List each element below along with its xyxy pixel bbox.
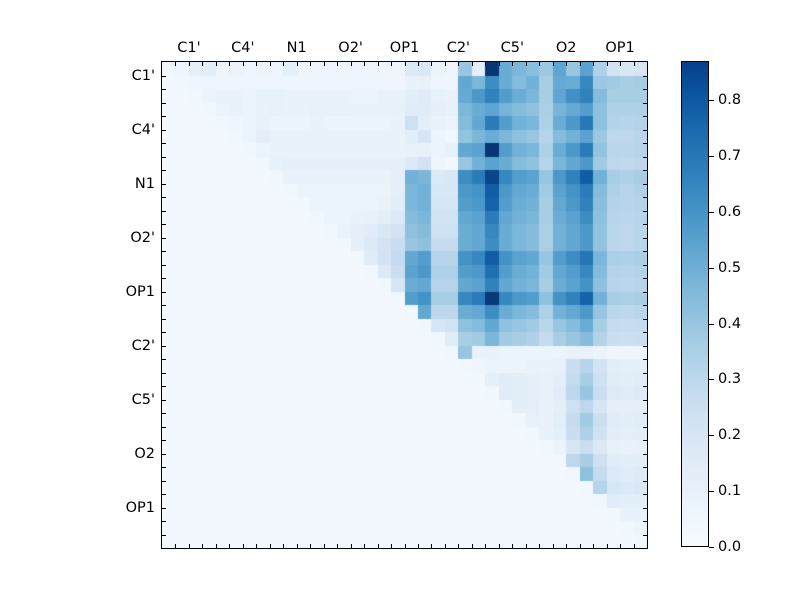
x-tick	[458, 62, 459, 66]
colorbar-tick	[709, 435, 714, 436]
x-tick	[229, 544, 230, 548]
y-tick	[162, 292, 166, 293]
y-tick	[643, 197, 647, 198]
x-tick	[566, 62, 567, 66]
y-tick	[643, 170, 647, 171]
y-tick	[162, 211, 166, 212]
y-tick	[162, 89, 166, 90]
y-tick	[643, 184, 647, 185]
x-tick	[526, 62, 527, 66]
y-tick	[162, 346, 166, 347]
y-tick	[643, 494, 647, 495]
y-tick	[162, 332, 166, 333]
colorbar-tick-label: 0.8	[718, 92, 741, 108]
x-tick	[499, 544, 500, 548]
x-tick	[175, 62, 176, 66]
colorbar-gradient	[681, 61, 709, 547]
x-tick	[175, 544, 176, 548]
colorbar-tick	[709, 491, 714, 492]
x-tick	[324, 544, 325, 548]
x-tick	[620, 544, 621, 548]
y-tick	[643, 265, 647, 266]
x-tick	[418, 544, 419, 548]
x-tick	[472, 544, 473, 548]
y-tick	[162, 238, 166, 239]
x-tick	[364, 544, 365, 548]
x-tick	[553, 544, 554, 548]
x-tick	[324, 62, 325, 66]
y-tick	[162, 440, 166, 441]
x-tick	[297, 544, 298, 548]
y-tick	[643, 319, 647, 320]
y-tick	[162, 278, 166, 279]
colorbar-tick-label: 0.7	[718, 148, 741, 164]
x-tick	[337, 62, 338, 66]
colorbar-tick	[709, 156, 714, 157]
heatmap-figure: C1'C4'N1O2'OP1C2'C5'O2OP1 C1'C4'N1O2'OP1…	[0, 0, 800, 600]
x-tick	[580, 62, 581, 66]
y-tick	[162, 454, 166, 455]
x-tick	[310, 62, 311, 66]
y-axis-tick-label: OP1	[126, 284, 155, 299]
y-axis-tick-label: C4'	[132, 122, 155, 137]
y-tick	[643, 278, 647, 279]
colorbar-tick	[709, 324, 714, 325]
y-tick	[162, 427, 166, 428]
y-tick	[162, 305, 166, 306]
x-tick	[283, 544, 284, 548]
x-tick	[620, 62, 621, 66]
x-tick	[580, 544, 581, 548]
colorbar-tick-label: 0.4	[718, 316, 741, 332]
x-tick	[297, 62, 298, 66]
x-axis-tick-label: C1'	[177, 41, 200, 56]
x-tick	[189, 544, 190, 548]
y-tick	[643, 224, 647, 225]
y-tick	[162, 224, 166, 225]
colorbar-tick-label: 0.2	[718, 427, 741, 443]
x-tick	[634, 544, 635, 548]
x-axis-tick-label: O2'	[338, 41, 363, 56]
y-axis-tick-label: OP1	[126, 500, 155, 515]
y-tick	[643, 332, 647, 333]
x-tick	[607, 62, 608, 66]
x-tick	[256, 62, 257, 66]
y-tick	[162, 494, 166, 495]
y-tick	[162, 467, 166, 468]
y-tick	[643, 292, 647, 293]
x-tick	[202, 544, 203, 548]
x-tick	[310, 544, 311, 548]
x-tick	[553, 62, 554, 66]
x-tick	[243, 62, 244, 66]
x-tick	[512, 62, 513, 66]
y-tick	[643, 157, 647, 158]
x-tick	[337, 544, 338, 548]
y-axis-tick-label: C2'	[132, 338, 155, 353]
x-axis-tick-label: OP1	[390, 41, 419, 56]
x-tick	[512, 544, 513, 548]
x-tick	[634, 62, 635, 66]
colorbar-tick-label: 0.3	[718, 371, 741, 387]
x-tick	[351, 544, 352, 548]
y-tick	[643, 508, 647, 509]
x-tick	[391, 62, 392, 66]
x-tick	[270, 62, 271, 66]
x-tick	[485, 544, 486, 548]
x-tick	[431, 544, 432, 548]
y-tick	[162, 319, 166, 320]
x-tick	[566, 544, 567, 548]
x-axis-tick-label: N1	[287, 41, 307, 56]
x-axis-tick-label: O2	[556, 41, 577, 56]
y-tick	[643, 440, 647, 441]
y-tick	[643, 373, 647, 374]
y-tick	[643, 535, 647, 536]
y-tick	[162, 359, 166, 360]
y-axis-tick-label: C5'	[132, 392, 155, 407]
x-axis-tick-label: C4'	[231, 41, 254, 56]
y-tick	[643, 130, 647, 131]
x-tick	[405, 62, 406, 66]
y-tick	[643, 386, 647, 387]
y-tick	[162, 481, 166, 482]
y-tick	[643, 359, 647, 360]
y-tick	[162, 170, 166, 171]
colorbar-tick	[709, 268, 714, 269]
colorbar-tick	[709, 212, 714, 213]
x-tick	[485, 62, 486, 66]
y-tick	[643, 427, 647, 428]
y-tick	[162, 251, 166, 252]
x-tick	[539, 544, 540, 548]
x-tick	[539, 62, 540, 66]
y-tick	[643, 76, 647, 77]
x-tick	[216, 62, 217, 66]
y-tick	[162, 400, 166, 401]
colorbar-tick	[709, 100, 714, 101]
y-tick	[643, 305, 647, 306]
heatmap-matrix[interactable]	[162, 62, 647, 548]
y-tick	[162, 197, 166, 198]
x-tick	[593, 62, 594, 66]
colorbar-tick-label: 0.1	[718, 483, 741, 499]
colorbar-tick-label: 0.5	[718, 260, 741, 276]
y-tick	[643, 413, 647, 414]
colorbar-tick-label: 0.0	[718, 539, 741, 555]
colorbar-tick-label: 0.6	[718, 204, 741, 220]
x-tick	[243, 544, 244, 548]
y-tick	[162, 265, 166, 266]
y-tick	[643, 103, 647, 104]
y-tick	[643, 454, 647, 455]
y-tick	[162, 157, 166, 158]
y-tick	[643, 467, 647, 468]
x-tick	[216, 544, 217, 548]
x-tick	[283, 62, 284, 66]
x-tick	[351, 62, 352, 66]
y-tick	[162, 521, 166, 522]
x-tick	[364, 62, 365, 66]
y-tick	[643, 238, 647, 239]
colorbar-tick	[709, 547, 714, 548]
x-tick	[189, 62, 190, 66]
y-tick	[643, 400, 647, 401]
y-tick	[162, 116, 166, 117]
y-tick	[643, 251, 647, 252]
y-tick	[162, 386, 166, 387]
x-tick	[378, 544, 379, 548]
x-tick	[202, 62, 203, 66]
x-tick	[256, 544, 257, 548]
y-tick	[162, 143, 166, 144]
x-tick	[458, 544, 459, 548]
x-tick	[607, 544, 608, 548]
y-axis-tick-label: C1'	[132, 68, 155, 83]
x-tick	[229, 62, 230, 66]
x-axis-tick-label: OP1	[605, 41, 634, 56]
x-tick	[499, 62, 500, 66]
y-axis-tick-label: O2'	[130, 230, 155, 245]
y-axis-tick-label: N1	[135, 176, 155, 191]
colorbar-tick	[709, 379, 714, 380]
y-tick	[162, 76, 166, 77]
y-tick	[162, 535, 166, 536]
y-tick	[643, 211, 647, 212]
x-tick	[378, 62, 379, 66]
y-tick	[162, 130, 166, 131]
y-tick	[162, 103, 166, 104]
x-tick	[472, 62, 473, 66]
x-tick	[526, 544, 527, 548]
colorbar[interactable]: 0.00.10.20.30.40.50.60.70.8	[681, 61, 709, 547]
x-tick	[445, 544, 446, 548]
x-tick	[593, 544, 594, 548]
x-tick	[431, 62, 432, 66]
heatmap-axes[interactable]: C1'C4'N1O2'OP1C2'C5'O2OP1 C1'C4'N1O2'OP1…	[161, 61, 648, 549]
y-tick	[162, 373, 166, 374]
x-tick	[418, 62, 419, 66]
y-axis-tick-label: O2	[134, 446, 155, 461]
x-axis-tick-label: C2'	[447, 41, 470, 56]
y-tick	[162, 508, 166, 509]
y-tick	[162, 413, 166, 414]
y-tick	[643, 143, 647, 144]
y-tick	[643, 116, 647, 117]
y-tick	[643, 521, 647, 522]
x-tick	[445, 62, 446, 66]
y-tick	[643, 346, 647, 347]
y-tick	[643, 481, 647, 482]
x-tick	[405, 544, 406, 548]
y-tick	[162, 184, 166, 185]
x-tick	[391, 544, 392, 548]
x-axis-tick-label: C5'	[501, 41, 524, 56]
y-tick	[643, 89, 647, 90]
x-tick	[270, 544, 271, 548]
